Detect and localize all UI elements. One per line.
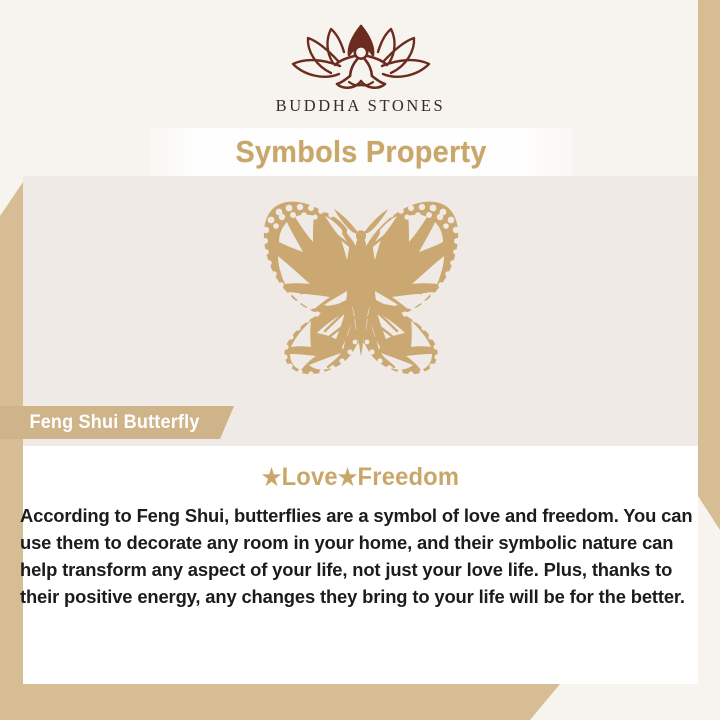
description-paragraph: According to Feng Shui, butterflies are … <box>20 502 707 610</box>
heading-word-love: Love <box>282 463 338 491</box>
title-banner: Symbols Property <box>150 128 572 176</box>
illustration-panel <box>23 176 698 446</box>
frame-left-band <box>0 182 23 720</box>
butterfly-illustration <box>23 190 698 395</box>
heading-word-freedom: Freedom <box>358 463 460 491</box>
star-icon-right: ★ <box>338 464 358 490</box>
love-freedom-heading: ★Love★Freedom <box>40 463 681 492</box>
brand-name: BUDDHA STONES <box>23 96 698 116</box>
infographic-page: BUDDHA STONES Symbols Property <box>0 0 720 720</box>
page-title: Symbols Property <box>235 134 486 170</box>
star-icon-left: ★ <box>262 464 282 490</box>
frame-right-band <box>698 0 720 530</box>
description-section: ★Love★Freedom According to Feng Shui, bu… <box>23 446 698 684</box>
lotus-meditation-icon <box>283 22 439 94</box>
butterfly-icon <box>195 190 527 390</box>
brand-logo: BUDDHA STONES <box>23 22 698 116</box>
feng-shui-butterfly-badge: Feng Shui Butterfly <box>0 406 234 439</box>
badge-label: Feng Shui Butterfly <box>29 412 199 434</box>
frame-bottom-band <box>0 684 720 720</box>
